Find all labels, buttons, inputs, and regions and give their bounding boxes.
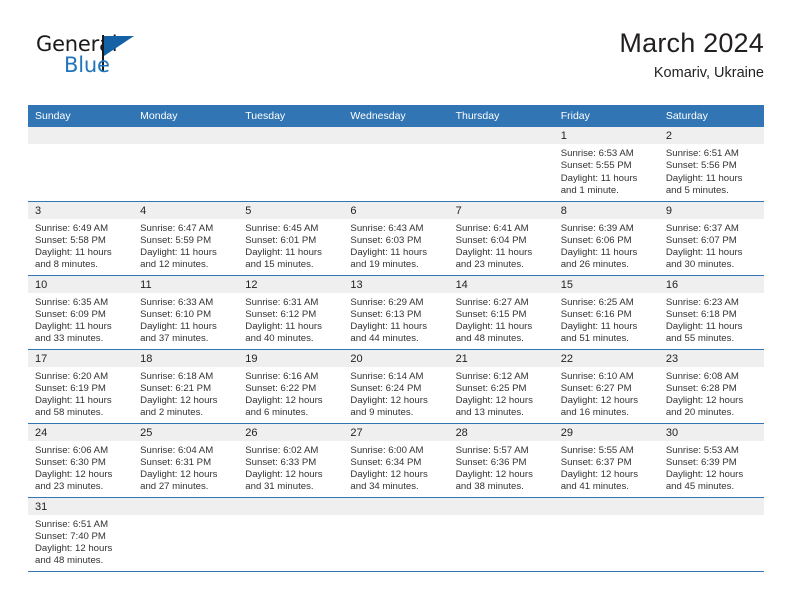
calendar-cell-day[interactable]: 31Sunrise: 6:51 AMSunset: 7:40 PMDayligh… [28,497,133,571]
day-number: 15 [554,276,659,293]
day-cell: 14Sunrise: 6:27 AMSunset: 6:15 PMDayligh… [449,276,554,349]
daylight-text: Daylight: 11 hours and 44 minutes. [350,321,442,346]
day-info: Sunrise: 6:14 AMSunset: 6:24 PMDaylight:… [343,367,448,420]
sunset-text: Sunset: 6:07 PM [666,235,758,247]
sunset-text: Sunset: 6:09 PM [35,309,127,321]
day-info: Sunrise: 6:33 AMSunset: 6:10 PMDaylight:… [133,293,238,346]
day-number: 19 [238,350,343,367]
day-cell: 26Sunrise: 6:02 AMSunset: 6:33 PMDayligh… [238,424,343,497]
calendar-cell-day[interactable]: 21Sunrise: 6:12 AMSunset: 6:25 PMDayligh… [449,349,554,423]
day-number: 20 [343,350,448,367]
day-number-bar [659,498,764,515]
day-cell: 20Sunrise: 6:14 AMSunset: 6:24 PMDayligh… [343,350,448,423]
sunset-text: Sunset: 5:55 PM [561,160,653,172]
sunset-text: Sunset: 6:39 PM [666,457,758,469]
day-cell: 5Sunrise: 6:45 AMSunset: 6:01 PMDaylight… [238,202,343,275]
sunrise-text: Sunrise: 6:43 AM [350,223,442,235]
calendar-cell-day[interactable]: 19Sunrise: 6:16 AMSunset: 6:22 PMDayligh… [238,349,343,423]
sunrise-text: Sunrise: 6:06 AM [35,445,127,457]
calendar-cell-day[interactable]: 12Sunrise: 6:31 AMSunset: 6:12 PMDayligh… [238,275,343,349]
day-number: 16 [659,276,764,293]
day-info: Sunrise: 6:51 AMSunset: 7:40 PMDaylight:… [28,515,133,568]
sunset-text: Sunset: 6:12 PM [245,309,337,321]
sunset-text: Sunset: 6:36 PM [456,457,548,469]
day-info: Sunrise: 6:18 AMSunset: 6:21 PMDaylight:… [133,367,238,420]
calendar-cell-empty [28,127,133,201]
daylight-text: Daylight: 12 hours and 6 minutes. [245,395,337,420]
calendar-cell-day[interactable]: 6Sunrise: 6:43 AMSunset: 6:03 PMDaylight… [343,201,448,275]
daylight-text: Daylight: 11 hours and 8 minutes. [35,247,127,272]
day-cell: 11Sunrise: 6:33 AMSunset: 6:10 PMDayligh… [133,276,238,349]
sunset-text: Sunset: 6:06 PM [561,235,653,247]
day-cell: 30Sunrise: 5:53 AMSunset: 6:39 PMDayligh… [659,424,764,497]
day-number-bar [238,498,343,515]
calendar-cell-empty [133,127,238,201]
day-info: Sunrise: 5:57 AMSunset: 6:36 PMDaylight:… [449,441,554,494]
day-info: Sunrise: 6:20 AMSunset: 6:19 PMDaylight:… [28,367,133,420]
weekday-header-wednesday: Wednesday [343,105,448,127]
daylight-text: Daylight: 11 hours and 40 minutes. [245,321,337,346]
calendar-cell-empty [343,497,448,571]
sunrise-text: Sunrise: 6:35 AM [35,297,127,309]
sunset-text: Sunset: 6:25 PM [456,383,548,395]
sunset-text: Sunset: 6:31 PM [140,457,232,469]
daylight-text: Daylight: 12 hours and 9 minutes. [350,395,442,420]
day-number: 24 [28,424,133,441]
calendar-week-row: 10Sunrise: 6:35 AMSunset: 6:09 PMDayligh… [28,275,764,349]
day-number: 12 [238,276,343,293]
sunrise-text: Sunrise: 6:37 AM [666,223,758,235]
day-number: 28 [449,424,554,441]
sunrise-text: Sunrise: 6:23 AM [666,297,758,309]
weekday-header-thursday: Thursday [449,105,554,127]
sunrise-text: Sunrise: 6:39 AM [561,223,653,235]
sunrise-text: Sunrise: 6:08 AM [666,371,758,383]
day-number: 8 [554,202,659,219]
calendar-cell-day[interactable]: 22Sunrise: 6:10 AMSunset: 6:27 PMDayligh… [554,349,659,423]
sunset-text: Sunset: 6:13 PM [350,309,442,321]
calendar-cell-empty [554,497,659,571]
day-number: 29 [554,424,659,441]
weekday-header-sunday: Sunday [28,105,133,127]
day-cell: 24Sunrise: 6:06 AMSunset: 6:30 PMDayligh… [28,424,133,497]
day-info: Sunrise: 6:47 AMSunset: 5:59 PMDaylight:… [133,219,238,272]
sunrise-text: Sunrise: 6:31 AM [245,297,337,309]
day-number: 11 [133,276,238,293]
day-cell: 29Sunrise: 5:55 AMSunset: 6:37 PMDayligh… [554,424,659,497]
day-cell: 8Sunrise: 6:39 AMSunset: 6:06 PMDaylight… [554,202,659,275]
daylight-text: Daylight: 11 hours and 37 minutes. [140,321,232,346]
daylight-text: Daylight: 12 hours and 27 minutes. [140,469,232,494]
calendar-week-row: 31Sunrise: 6:51 AMSunset: 7:40 PMDayligh… [28,497,764,571]
page-header: General Blue March 2024 Komariv, Ukraine [28,28,764,96]
calendar-cell-empty [238,127,343,201]
sunset-text: Sunset: 7:40 PM [35,531,127,543]
calendar-cell-day[interactable]: 18Sunrise: 6:18 AMSunset: 6:21 PMDayligh… [133,349,238,423]
calendar-cell-day[interactable]: 29Sunrise: 5:55 AMSunset: 6:37 PMDayligh… [554,423,659,497]
calendar-cell-empty [133,497,238,571]
day-info: Sunrise: 6:29 AMSunset: 6:13 PMDaylight:… [343,293,448,346]
day-info: Sunrise: 6:23 AMSunset: 6:18 PMDaylight:… [659,293,764,346]
day-number: 2 [659,127,764,144]
sunrise-text: Sunrise: 6:04 AM [140,445,232,457]
day-info: Sunrise: 6:25 AMSunset: 6:16 PMDaylight:… [554,293,659,346]
day-info: Sunrise: 6:27 AMSunset: 6:15 PMDaylight:… [449,293,554,346]
daylight-text: Daylight: 12 hours and 13 minutes. [456,395,548,420]
sunrise-text: Sunrise: 6:16 AM [245,371,337,383]
sunset-text: Sunset: 5:59 PM [140,235,232,247]
calendar-cell-day[interactable]: 3Sunrise: 6:49 AMSunset: 5:58 PMDaylight… [28,201,133,275]
general-blue-logo: General Blue [36,34,216,88]
day-cell: 4Sunrise: 6:47 AMSunset: 5:59 PMDaylight… [133,202,238,275]
daylight-text: Daylight: 12 hours and 38 minutes. [456,469,548,494]
daylight-text: Daylight: 11 hours and 15 minutes. [245,247,337,272]
calendar-cell-empty [449,497,554,571]
day-number: 3 [28,202,133,219]
sunrise-text: Sunrise: 6:02 AM [245,445,337,457]
sunset-text: Sunset: 6:15 PM [456,309,548,321]
day-cell: 1Sunrise: 6:53 AMSunset: 5:55 PMDaylight… [554,127,659,201]
calendar-cell-day[interactable]: 9Sunrise: 6:37 AMSunset: 6:07 PMDaylight… [659,201,764,275]
day-info: Sunrise: 6:00 AMSunset: 6:34 PMDaylight:… [343,441,448,494]
day-number: 13 [343,276,448,293]
sunset-text: Sunset: 6:34 PM [350,457,442,469]
calendar-cell-empty [343,127,448,201]
calendar-body: 1Sunrise: 6:53 AMSunset: 5:55 PMDaylight… [28,127,764,571]
calendar-cell-day[interactable]: 7Sunrise: 6:41 AMSunset: 6:04 PMDaylight… [449,201,554,275]
calendar-cell-day[interactable]: 24Sunrise: 6:06 AMSunset: 6:30 PMDayligh… [28,423,133,497]
day-cell: 22Sunrise: 6:10 AMSunset: 6:27 PMDayligh… [554,350,659,423]
daylight-text: Daylight: 11 hours and 55 minutes. [666,321,758,346]
day-info: Sunrise: 5:53 AMSunset: 6:39 PMDaylight:… [659,441,764,494]
day-number: 5 [238,202,343,219]
daylight-text: Daylight: 11 hours and 30 minutes. [666,247,758,272]
title-block: March 2024 Komariv, Ukraine [619,28,764,82]
sunset-text: Sunset: 6:21 PM [140,383,232,395]
daylight-text: Daylight: 12 hours and 23 minutes. [35,469,127,494]
daylight-text: Daylight: 12 hours and 34 minutes. [350,469,442,494]
day-cell: 2Sunrise: 6:51 AMSunset: 5:56 PMDaylight… [659,127,764,201]
day-cell: 31Sunrise: 6:51 AMSunset: 7:40 PMDayligh… [28,498,133,571]
location-subtitle: Komariv, Ukraine [619,65,764,82]
day-info: Sunrise: 6:04 AMSunset: 6:31 PMDaylight:… [133,441,238,494]
calendar-cell-day[interactable]: 14Sunrise: 6:27 AMSunset: 6:15 PMDayligh… [449,275,554,349]
day-number-bar [133,127,238,144]
daylight-text: Daylight: 11 hours and 12 minutes. [140,247,232,272]
sunrise-text: Sunrise: 6:51 AM [666,148,758,160]
daylight-text: Daylight: 12 hours and 31 minutes. [245,469,337,494]
sunset-text: Sunset: 6:30 PM [35,457,127,469]
day-number: 22 [554,350,659,367]
day-cell: 6Sunrise: 6:43 AMSunset: 6:03 PMDaylight… [343,202,448,275]
calendar-cell-day[interactable]: 30Sunrise: 5:53 AMSunset: 6:39 PMDayligh… [659,423,764,497]
weekday-header-saturday: Saturday [659,105,764,127]
sunset-text: Sunset: 6:28 PM [666,383,758,395]
calendar-cell-day[interactable]: 5Sunrise: 6:45 AMSunset: 6:01 PMDaylight… [238,201,343,275]
day-info: Sunrise: 6:37 AMSunset: 6:07 PMDaylight:… [659,219,764,272]
weekday-header-friday: Friday [554,105,659,127]
day-number-bar [343,127,448,144]
sunset-text: Sunset: 6:18 PM [666,309,758,321]
daylight-text: Daylight: 12 hours and 45 minutes. [666,469,758,494]
day-number: 9 [659,202,764,219]
day-info: Sunrise: 6:31 AMSunset: 6:12 PMDaylight:… [238,293,343,346]
calendar-week-row: 3Sunrise: 6:49 AMSunset: 5:58 PMDaylight… [28,201,764,275]
day-info: Sunrise: 6:41 AMSunset: 6:04 PMDaylight:… [449,219,554,272]
day-info: Sunrise: 6:45 AMSunset: 6:01 PMDaylight:… [238,219,343,272]
calendar-cell-day[interactable]: 20Sunrise: 6:14 AMSunset: 6:24 PMDayligh… [343,349,448,423]
weekday-header-row: Sunday Monday Tuesday Wednesday Thursday… [28,105,764,127]
calendar-cell-day[interactable]: 2Sunrise: 6:51 AMSunset: 5:56 PMDaylight… [659,127,764,201]
sunset-text: Sunset: 6:22 PM [245,383,337,395]
sunset-text: Sunset: 6:33 PM [245,457,337,469]
calendar-cell-empty [659,497,764,571]
day-number-bar [343,498,448,515]
sunrise-text: Sunrise: 6:45 AM [245,223,337,235]
sunrise-sunset-calendar: Sunday Monday Tuesday Wednesday Thursday… [28,105,764,572]
calendar-cell-day[interactable]: 26Sunrise: 6:02 AMSunset: 6:33 PMDayligh… [238,423,343,497]
sunrise-text: Sunrise: 6:14 AM [350,371,442,383]
daylight-text: Daylight: 11 hours and 51 minutes. [561,321,653,346]
day-cell: 9Sunrise: 6:37 AMSunset: 6:07 PMDaylight… [659,202,764,275]
sunset-text: Sunset: 6:01 PM [245,235,337,247]
day-info: Sunrise: 6:08 AMSunset: 6:28 PMDaylight:… [659,367,764,420]
day-number: 27 [343,424,448,441]
logo-text-blue: Blue [64,55,110,76]
sunrise-text: Sunrise: 6:51 AM [35,519,127,531]
day-cell: 13Sunrise: 6:29 AMSunset: 6:13 PMDayligh… [343,276,448,349]
calendar-cell-empty [449,127,554,201]
sunrise-text: Sunrise: 6:20 AM [35,371,127,383]
day-number: 26 [238,424,343,441]
sunset-text: Sunset: 6:10 PM [140,309,232,321]
page-title: March 2024 [619,28,764,59]
daylight-text: Daylight: 11 hours and 1 minute. [561,173,653,198]
daylight-text: Daylight: 12 hours and 2 minutes. [140,395,232,420]
day-number: 4 [133,202,238,219]
day-number: 1 [554,127,659,144]
calendar-cell-empty [238,497,343,571]
calendar-week-row: 1Sunrise: 6:53 AMSunset: 5:55 PMDaylight… [28,127,764,201]
day-info: Sunrise: 6:02 AMSunset: 6:33 PMDaylight:… [238,441,343,494]
day-info: Sunrise: 6:12 AMSunset: 6:25 PMDaylight:… [449,367,554,420]
sunrise-text: Sunrise: 6:29 AM [350,297,442,309]
calendar-cell-day[interactable]: 28Sunrise: 5:57 AMSunset: 6:36 PMDayligh… [449,423,554,497]
day-info: Sunrise: 6:16 AMSunset: 6:22 PMDaylight:… [238,367,343,420]
calendar-cell-day[interactable]: 4Sunrise: 6:47 AMSunset: 5:59 PMDaylight… [133,201,238,275]
daylight-text: Daylight: 12 hours and 20 minutes. [666,395,758,420]
day-number: 14 [449,276,554,293]
sunset-text: Sunset: 6:16 PM [561,309,653,321]
daylight-text: Daylight: 11 hours and 19 minutes. [350,247,442,272]
day-cell: 25Sunrise: 6:04 AMSunset: 6:31 PMDayligh… [133,424,238,497]
sunset-text: Sunset: 5:58 PM [35,235,127,247]
day-number-bar [133,498,238,515]
sunrise-text: Sunrise: 6:41 AM [456,223,548,235]
day-number-bar [28,127,133,144]
sunrise-text: Sunrise: 5:57 AM [456,445,548,457]
day-cell: 21Sunrise: 6:12 AMSunset: 6:25 PMDayligh… [449,350,554,423]
calendar-cell-day[interactable]: 17Sunrise: 6:20 AMSunset: 6:19 PMDayligh… [28,349,133,423]
sunrise-text: Sunrise: 6:00 AM [350,445,442,457]
sunset-text: Sunset: 6:37 PM [561,457,653,469]
weekday-header-tuesday: Tuesday [238,105,343,127]
sunrise-text: Sunrise: 6:53 AM [561,148,653,160]
calendar-cell-day[interactable]: 15Sunrise: 6:25 AMSunset: 6:16 PMDayligh… [554,275,659,349]
sunrise-text: Sunrise: 6:49 AM [35,223,127,235]
day-cell: 23Sunrise: 6:08 AMSunset: 6:28 PMDayligh… [659,350,764,423]
sunset-text: Sunset: 6:19 PM [35,383,127,395]
day-number: 23 [659,350,764,367]
day-cell: 10Sunrise: 6:35 AMSunset: 6:09 PMDayligh… [28,276,133,349]
calendar-cell-day[interactable]: 13Sunrise: 6:29 AMSunset: 6:13 PMDayligh… [343,275,448,349]
day-number: 30 [659,424,764,441]
sunrise-text: Sunrise: 5:55 AM [561,445,653,457]
sunrise-text: Sunrise: 6:27 AM [456,297,548,309]
day-number-bar [238,127,343,144]
sunrise-text: Sunrise: 6:10 AM [561,371,653,383]
day-number: 18 [133,350,238,367]
day-cell: 12Sunrise: 6:31 AMSunset: 6:12 PMDayligh… [238,276,343,349]
weekday-header-monday: Monday [133,105,238,127]
sunrise-text: Sunrise: 6:12 AM [456,371,548,383]
day-cell: 27Sunrise: 6:00 AMSunset: 6:34 PMDayligh… [343,424,448,497]
sunrise-text: Sunrise: 6:47 AM [140,223,232,235]
day-info: Sunrise: 6:06 AMSunset: 6:30 PMDaylight:… [28,441,133,494]
calendar-week-row: 24Sunrise: 6:06 AMSunset: 6:30 PMDayligh… [28,423,764,497]
day-cell: 3Sunrise: 6:49 AMSunset: 5:58 PMDaylight… [28,202,133,275]
sunrise-text: Sunrise: 6:33 AM [140,297,232,309]
day-cell: 19Sunrise: 6:16 AMSunset: 6:22 PMDayligh… [238,350,343,423]
day-info: Sunrise: 6:49 AMSunset: 5:58 PMDaylight:… [28,219,133,272]
day-number-bar [449,498,554,515]
day-info: Sunrise: 6:43 AMSunset: 6:03 PMDaylight:… [343,219,448,272]
day-info: Sunrise: 6:35 AMSunset: 6:09 PMDaylight:… [28,293,133,346]
calendar-cell-day[interactable]: 10Sunrise: 6:35 AMSunset: 6:09 PMDayligh… [28,275,133,349]
day-number: 17 [28,350,133,367]
day-info: Sunrise: 6:53 AMSunset: 5:55 PMDaylight:… [554,144,659,197]
day-info: Sunrise: 6:39 AMSunset: 6:06 PMDaylight:… [554,219,659,272]
calendar-cell-day[interactable]: 23Sunrise: 6:08 AMSunset: 6:28 PMDayligh… [659,349,764,423]
calendar-page: General Blue March 2024 Komariv, Ukraine… [0,0,792,612]
calendar-cell-day[interactable]: 11Sunrise: 6:33 AMSunset: 6:10 PMDayligh… [133,275,238,349]
day-info: Sunrise: 5:55 AMSunset: 6:37 PMDaylight:… [554,441,659,494]
day-cell: 16Sunrise: 6:23 AMSunset: 6:18 PMDayligh… [659,276,764,349]
day-cell: 17Sunrise: 6:20 AMSunset: 6:19 PMDayligh… [28,350,133,423]
calendar-cell-day[interactable]: 27Sunrise: 6:00 AMSunset: 6:34 PMDayligh… [343,423,448,497]
day-number: 10 [28,276,133,293]
daylight-text: Daylight: 11 hours and 33 minutes. [35,321,127,346]
calendar-week-row: 17Sunrise: 6:20 AMSunset: 6:19 PMDayligh… [28,349,764,423]
day-number: 6 [343,202,448,219]
calendar-cell-day[interactable]: 25Sunrise: 6:04 AMSunset: 6:31 PMDayligh… [133,423,238,497]
sunrise-text: Sunrise: 6:18 AM [140,371,232,383]
sunset-text: Sunset: 6:24 PM [350,383,442,395]
day-cell: 15Sunrise: 6:25 AMSunset: 6:16 PMDayligh… [554,276,659,349]
daylight-text: Daylight: 12 hours and 41 minutes. [561,469,653,494]
day-number: 7 [449,202,554,219]
daylight-text: Daylight: 11 hours and 48 minutes. [456,321,548,346]
sunrise-text: Sunrise: 6:25 AM [561,297,653,309]
daylight-text: Daylight: 12 hours and 48 minutes. [35,543,127,568]
sunset-text: Sunset: 6:27 PM [561,383,653,395]
daylight-text: Daylight: 11 hours and 26 minutes. [561,247,653,272]
day-cell: 28Sunrise: 5:57 AMSunset: 6:36 PMDayligh… [449,424,554,497]
sunrise-text: Sunrise: 5:53 AM [666,445,758,457]
day-info: Sunrise: 6:10 AMSunset: 6:27 PMDaylight:… [554,367,659,420]
day-info: Sunrise: 6:51 AMSunset: 5:56 PMDaylight:… [659,144,764,197]
daylight-text: Daylight: 11 hours and 58 minutes. [35,395,127,420]
day-number-bar [554,498,659,515]
calendar-cell-day[interactable]: 1Sunrise: 6:53 AMSunset: 5:55 PMDaylight… [554,127,659,201]
daylight-text: Daylight: 11 hours and 5 minutes. [666,173,758,198]
sunset-text: Sunset: 6:03 PM [350,235,442,247]
day-number: 25 [133,424,238,441]
daylight-text: Daylight: 11 hours and 23 minutes. [456,247,548,272]
day-number: 31 [28,498,133,515]
calendar-cell-day[interactable]: 8Sunrise: 6:39 AMSunset: 6:06 PMDaylight… [554,201,659,275]
day-number: 21 [449,350,554,367]
sunset-text: Sunset: 5:56 PM [666,160,758,172]
day-cell: 7Sunrise: 6:41 AMSunset: 6:04 PMDaylight… [449,202,554,275]
sunset-text: Sunset: 6:04 PM [456,235,548,247]
calendar-cell-day[interactable]: 16Sunrise: 6:23 AMSunset: 6:18 PMDayligh… [659,275,764,349]
day-cell: 18Sunrise: 6:18 AMSunset: 6:21 PMDayligh… [133,350,238,423]
day-number-bar [449,127,554,144]
daylight-text: Daylight: 12 hours and 16 minutes. [561,395,653,420]
